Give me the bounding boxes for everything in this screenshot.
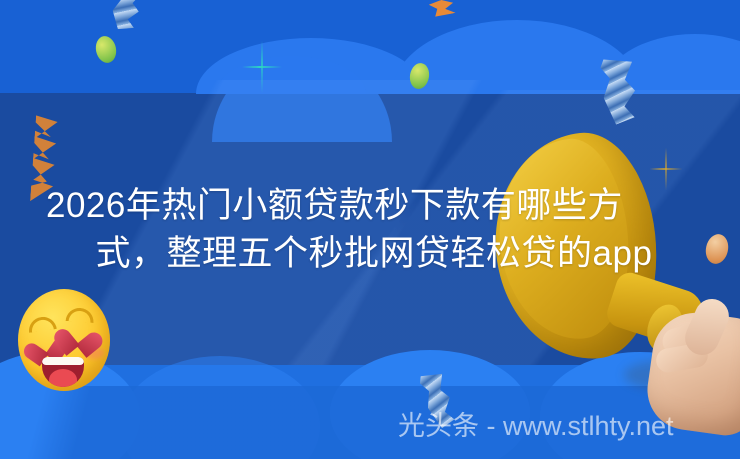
emoji-teeth <box>42 357 84 365</box>
emoji-heart-eye-right-icon <box>63 318 96 349</box>
banner-title: 2026年热门小额贷款秒下款有哪些方 式，整理五个秒批网贷轻松贷的app <box>40 182 708 278</box>
site-watermark: 光头条 - www.stlhty.net <box>398 410 674 442</box>
banner-title-line-1: 2026年热门小额贷款秒下款有哪些方 <box>40 182 708 230</box>
banner-title-line-2: 式，整理五个秒批网贷轻松贷的app <box>40 230 708 278</box>
article-cover-banner: 2026年热门小额贷款秒下款有哪些方 式，整理五个秒批网贷轻松贷的app 光头条… <box>0 0 740 459</box>
emoji-tongue <box>49 369 77 387</box>
smiling-face-with-heart-eyes-emoji <box>18 289 110 391</box>
